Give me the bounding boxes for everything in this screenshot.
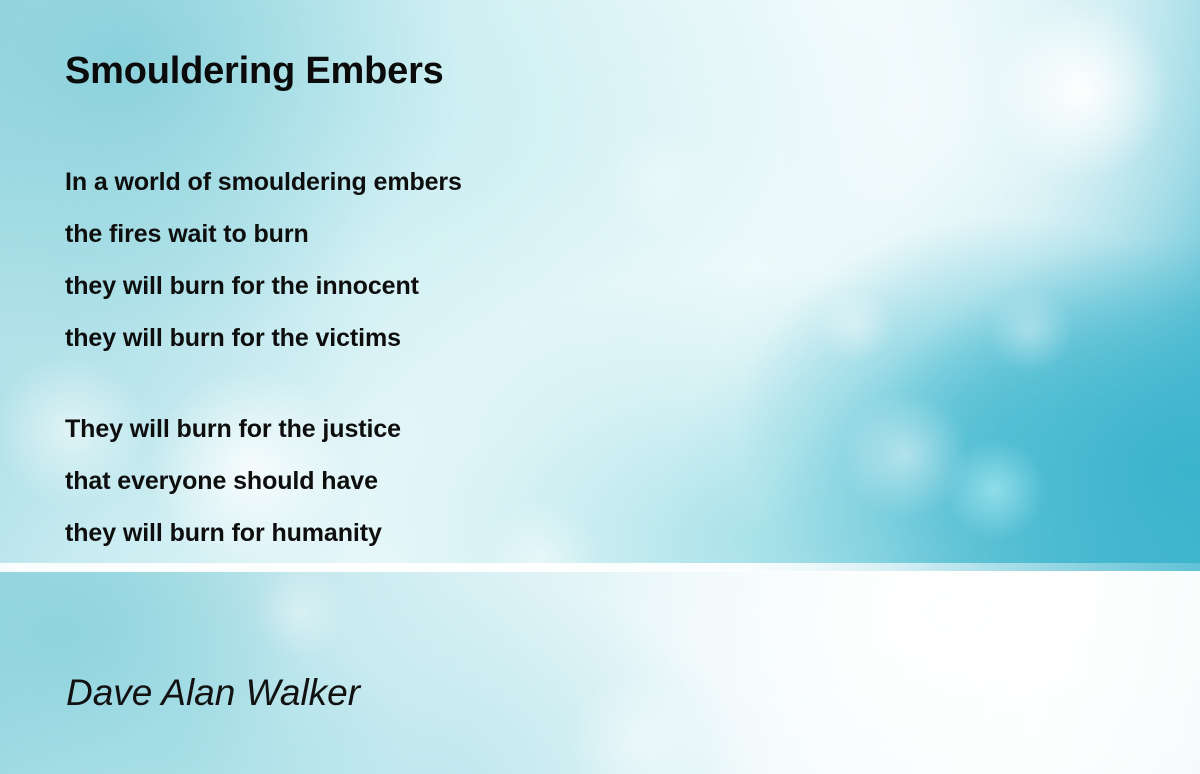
poem-line: that everyone should have — [65, 455, 885, 507]
poem-image-card: Smouldering Embers In a world of smoulde… — [0, 0, 1200, 774]
stanza: They will burn for the justice that ever… — [65, 403, 885, 559]
poem-body: In a world of smouldering embers the fir… — [65, 156, 885, 559]
poem-line: They will burn for the justice — [65, 403, 885, 455]
poem-line: In a world of smouldering embers — [65, 156, 885, 208]
author-name: Dave Alan Walker — [66, 674, 360, 711]
poem-line: they will burn for the innocent — [65, 260, 885, 312]
poem-line: the fires wait to burn — [65, 208, 885, 260]
page-title: Smouldering Embers — [65, 52, 444, 90]
poem-line: they will burn for the victims — [65, 312, 885, 364]
poem-content: Smouldering Embers In a world of smoulde… — [0, 0, 1200, 774]
stanza: In a world of smouldering embers the fir… — [65, 156, 885, 364]
poem-line: they will burn for humanity — [65, 507, 885, 559]
